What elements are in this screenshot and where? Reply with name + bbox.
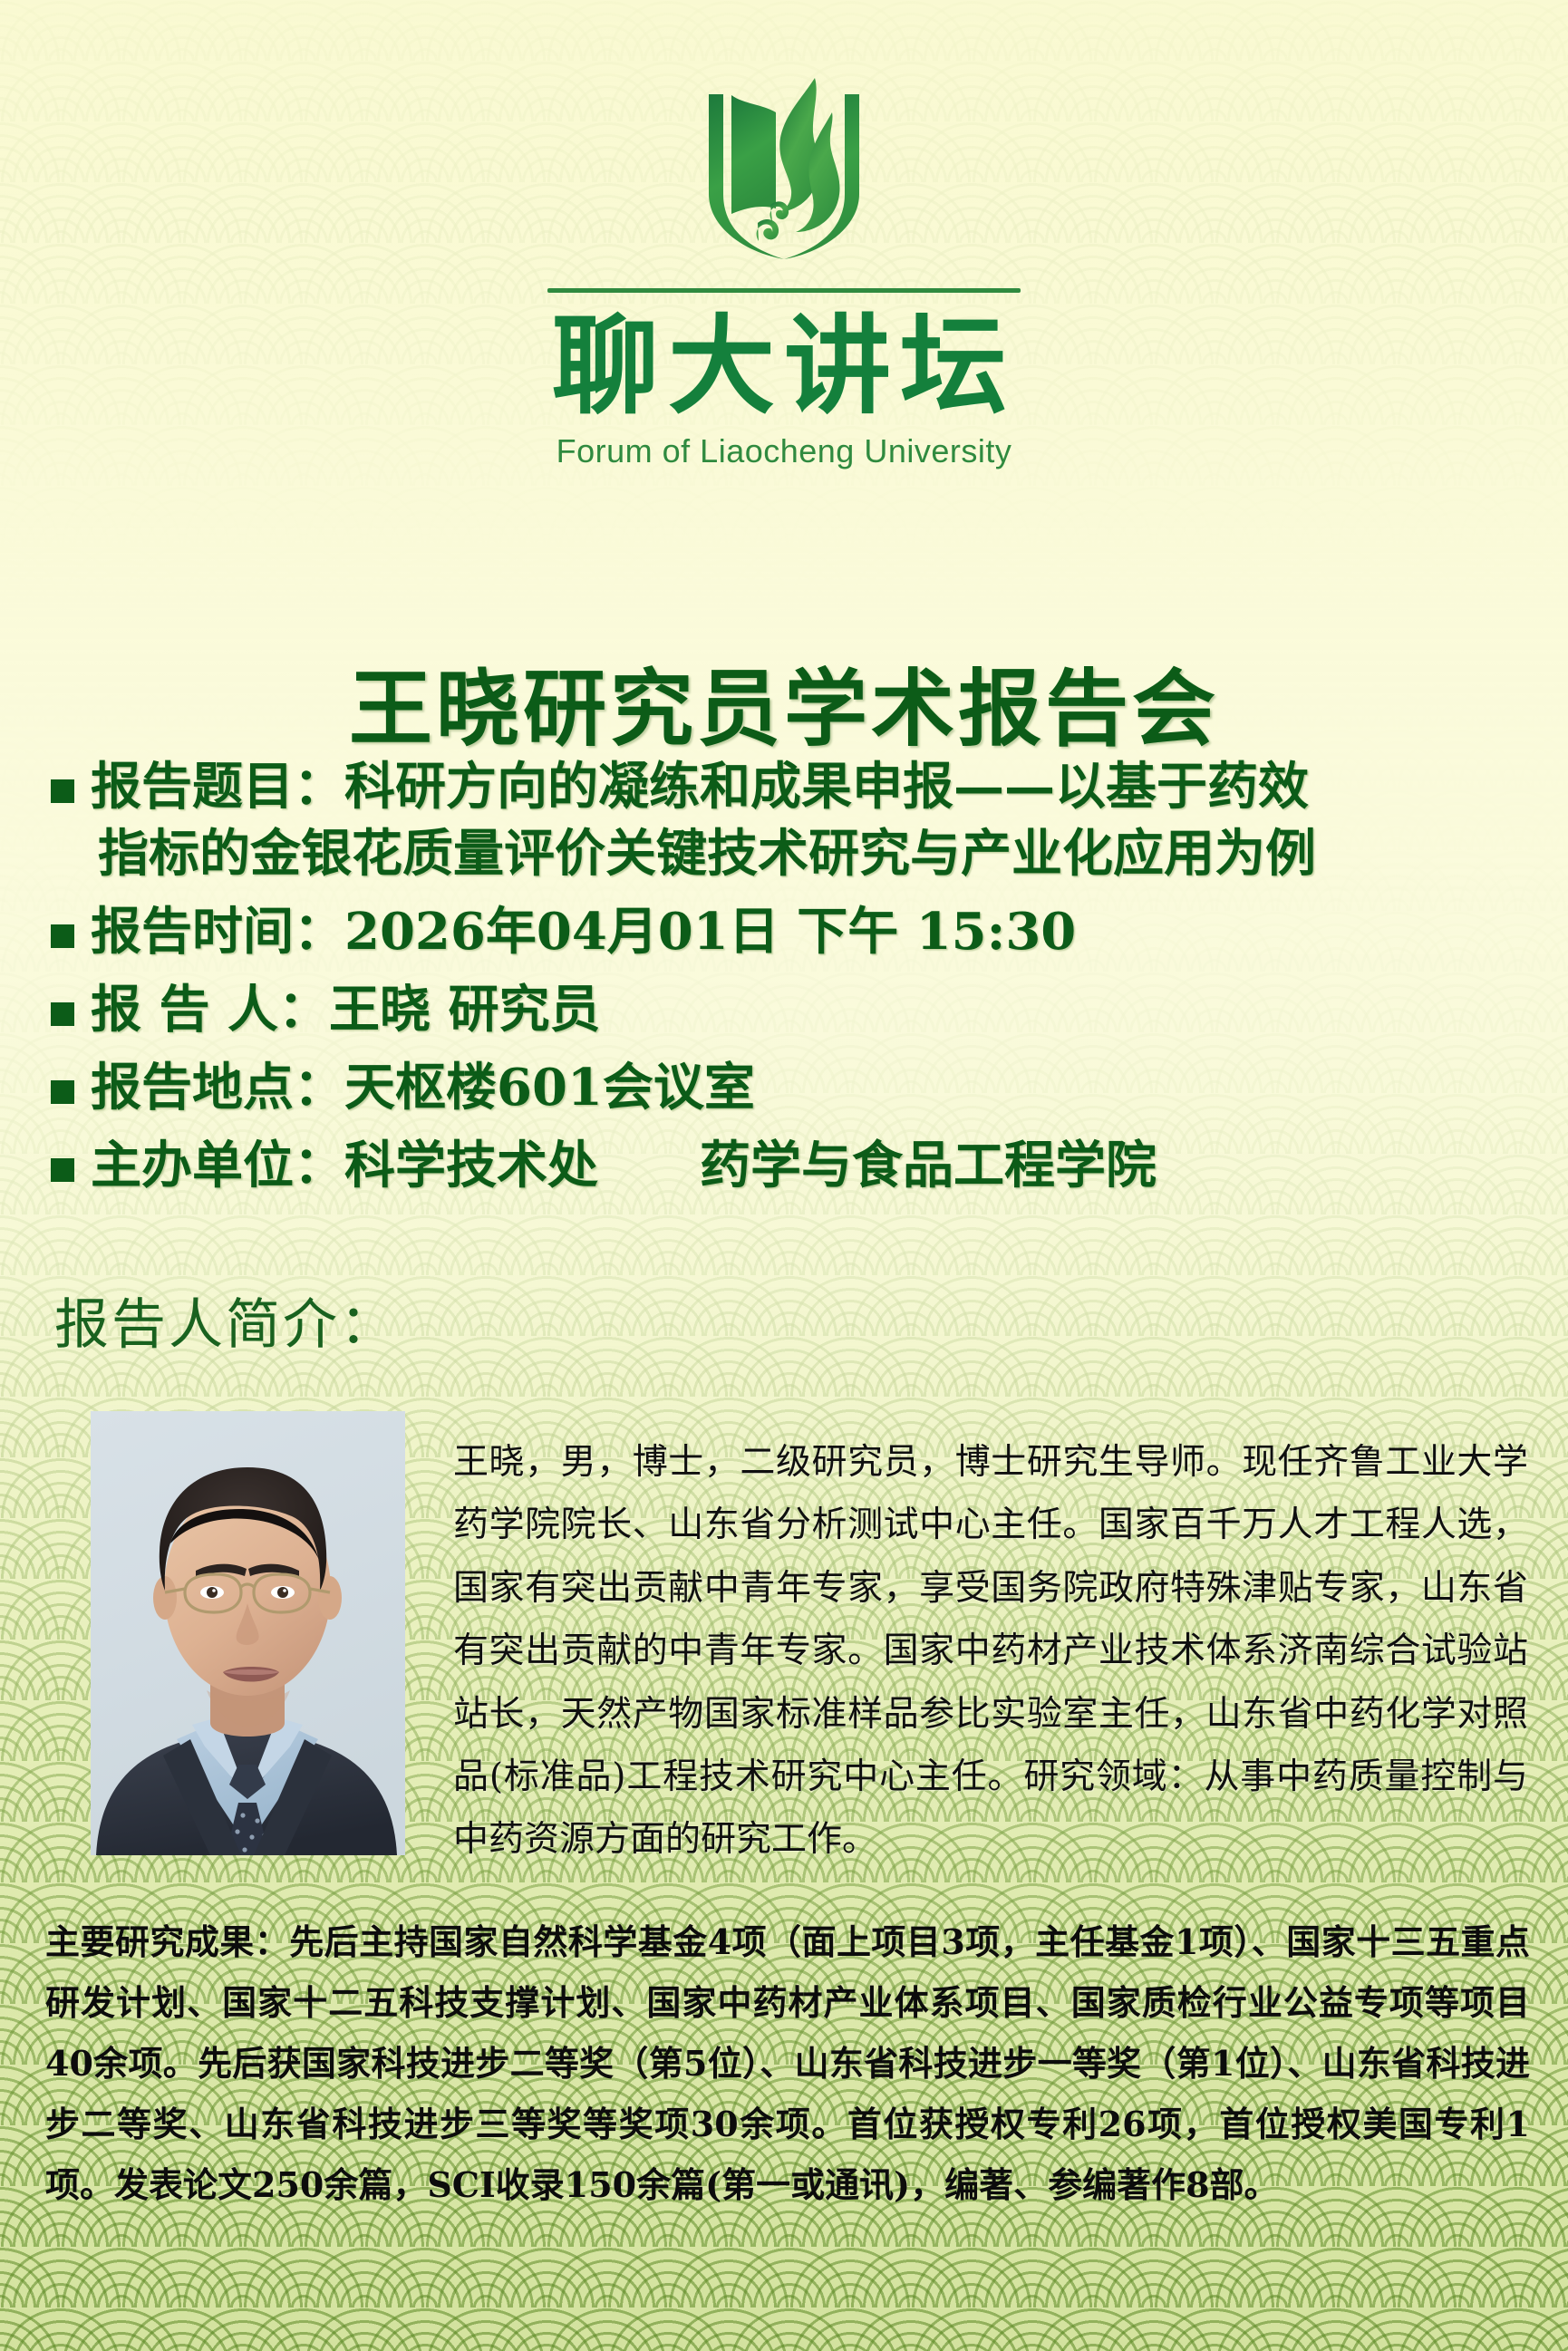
logo-divider-rule — [547, 288, 1021, 293]
speaker-achievements-paragraph: 主要研究成果：先后主持国家自然科学基金4项（面上项目3项，主任基金1项）、国家十… — [45, 1912, 1530, 2215]
info-value-topic: 科研方向的凝练和成果申报——以基于药效 — [344, 757, 1309, 817]
info-row-venue-body: 报告地点：天枢楼601会议室 — [91, 1055, 1532, 1122]
page-title: 王晓研究员学术报告会 — [0, 665, 1568, 753]
info-value-time: 2026年04月01日 下午 15:30 — [344, 902, 1076, 962]
square-bullet-icon — [51, 1080, 74, 1104]
info-label-topic: 报告题目： — [91, 757, 344, 817]
poster-root: 聊大讲坛 Forum of Liaocheng University 王晓研究员… — [0, 0, 1568, 2351]
info-value-speaker: 王晓 研究员 — [329, 980, 601, 1040]
brand-subtitle: Forum of Liaocheng University — [0, 432, 1568, 470]
info-label-time: 报告时间： — [91, 902, 344, 962]
info-row-organizer: 主办单位：科学技术处 药学与食品工程学院 — [51, 1133, 1532, 1200]
speaker-bio-paragraph: 王晓，男，博士，二级研究员，博士研究生导师。现任齐鲁工业大学药学院院长、山东省分… — [453, 1431, 1528, 1872]
brand-logo-block: 聊大讲坛 Forum of Liaocheng University — [0, 71, 1568, 470]
info-value-organizer: 科学技术处 药学与食品工程学院 — [344, 1136, 1157, 1195]
info-row-speaker-body: 报 告 人：王晓 研究员 — [91, 977, 1532, 1044]
square-bullet-icon — [51, 924, 74, 948]
info-label-venue: 报告地点： — [91, 1058, 344, 1117]
square-bullet-icon — [51, 779, 74, 803]
shield-flame-leaf-logo-icon — [702, 71, 866, 263]
info-row-time-body: 报告时间：2026年04月01日 下午 15:30 — [91, 899, 1532, 966]
info-label-speaker: 报 告 人： — [91, 980, 329, 1040]
info-row-topic-body: 报告题目：科研方向的凝练和成果申报——以基于药效 指标的金银花质量评价关键技术研… — [91, 754, 1532, 888]
info-row-time: 报告时间：2026年04月01日 下午 15:30 — [51, 899, 1532, 966]
square-bullet-icon — [51, 1002, 74, 1026]
info-label-organizer: 主办单位： — [91, 1136, 344, 1195]
brand-wordmark: 聊大讲坛 — [0, 313, 1568, 420]
info-value-topic-line2: 指标的金银花质量评价关键技术研究与产业化应用为例 — [91, 821, 1532, 888]
info-row-organizer-body: 主办单位：科学技术处 药学与食品工程学院 — [91, 1133, 1532, 1200]
speaker-section-heading: 报告人简介： — [54, 1281, 397, 1359]
info-value-venue: 天枢楼601会议室 — [344, 1058, 755, 1117]
avatar — [91, 1411, 405, 1855]
event-info-list: 报告题目：科研方向的凝练和成果申报——以基于药效 指标的金银花质量评价关键技术研… — [51, 754, 1532, 1210]
square-bullet-icon — [51, 1158, 74, 1182]
info-row-topic: 报告题目：科研方向的凝练和成果申报——以基于药效 指标的金银花质量评价关键技术研… — [51, 754, 1532, 888]
speaker-portrait-photo — [91, 1411, 405, 1855]
info-row-venue: 报告地点：天枢楼601会议室 — [51, 1055, 1532, 1122]
info-row-speaker: 报 告 人：王晓 研究员 — [51, 977, 1532, 1044]
